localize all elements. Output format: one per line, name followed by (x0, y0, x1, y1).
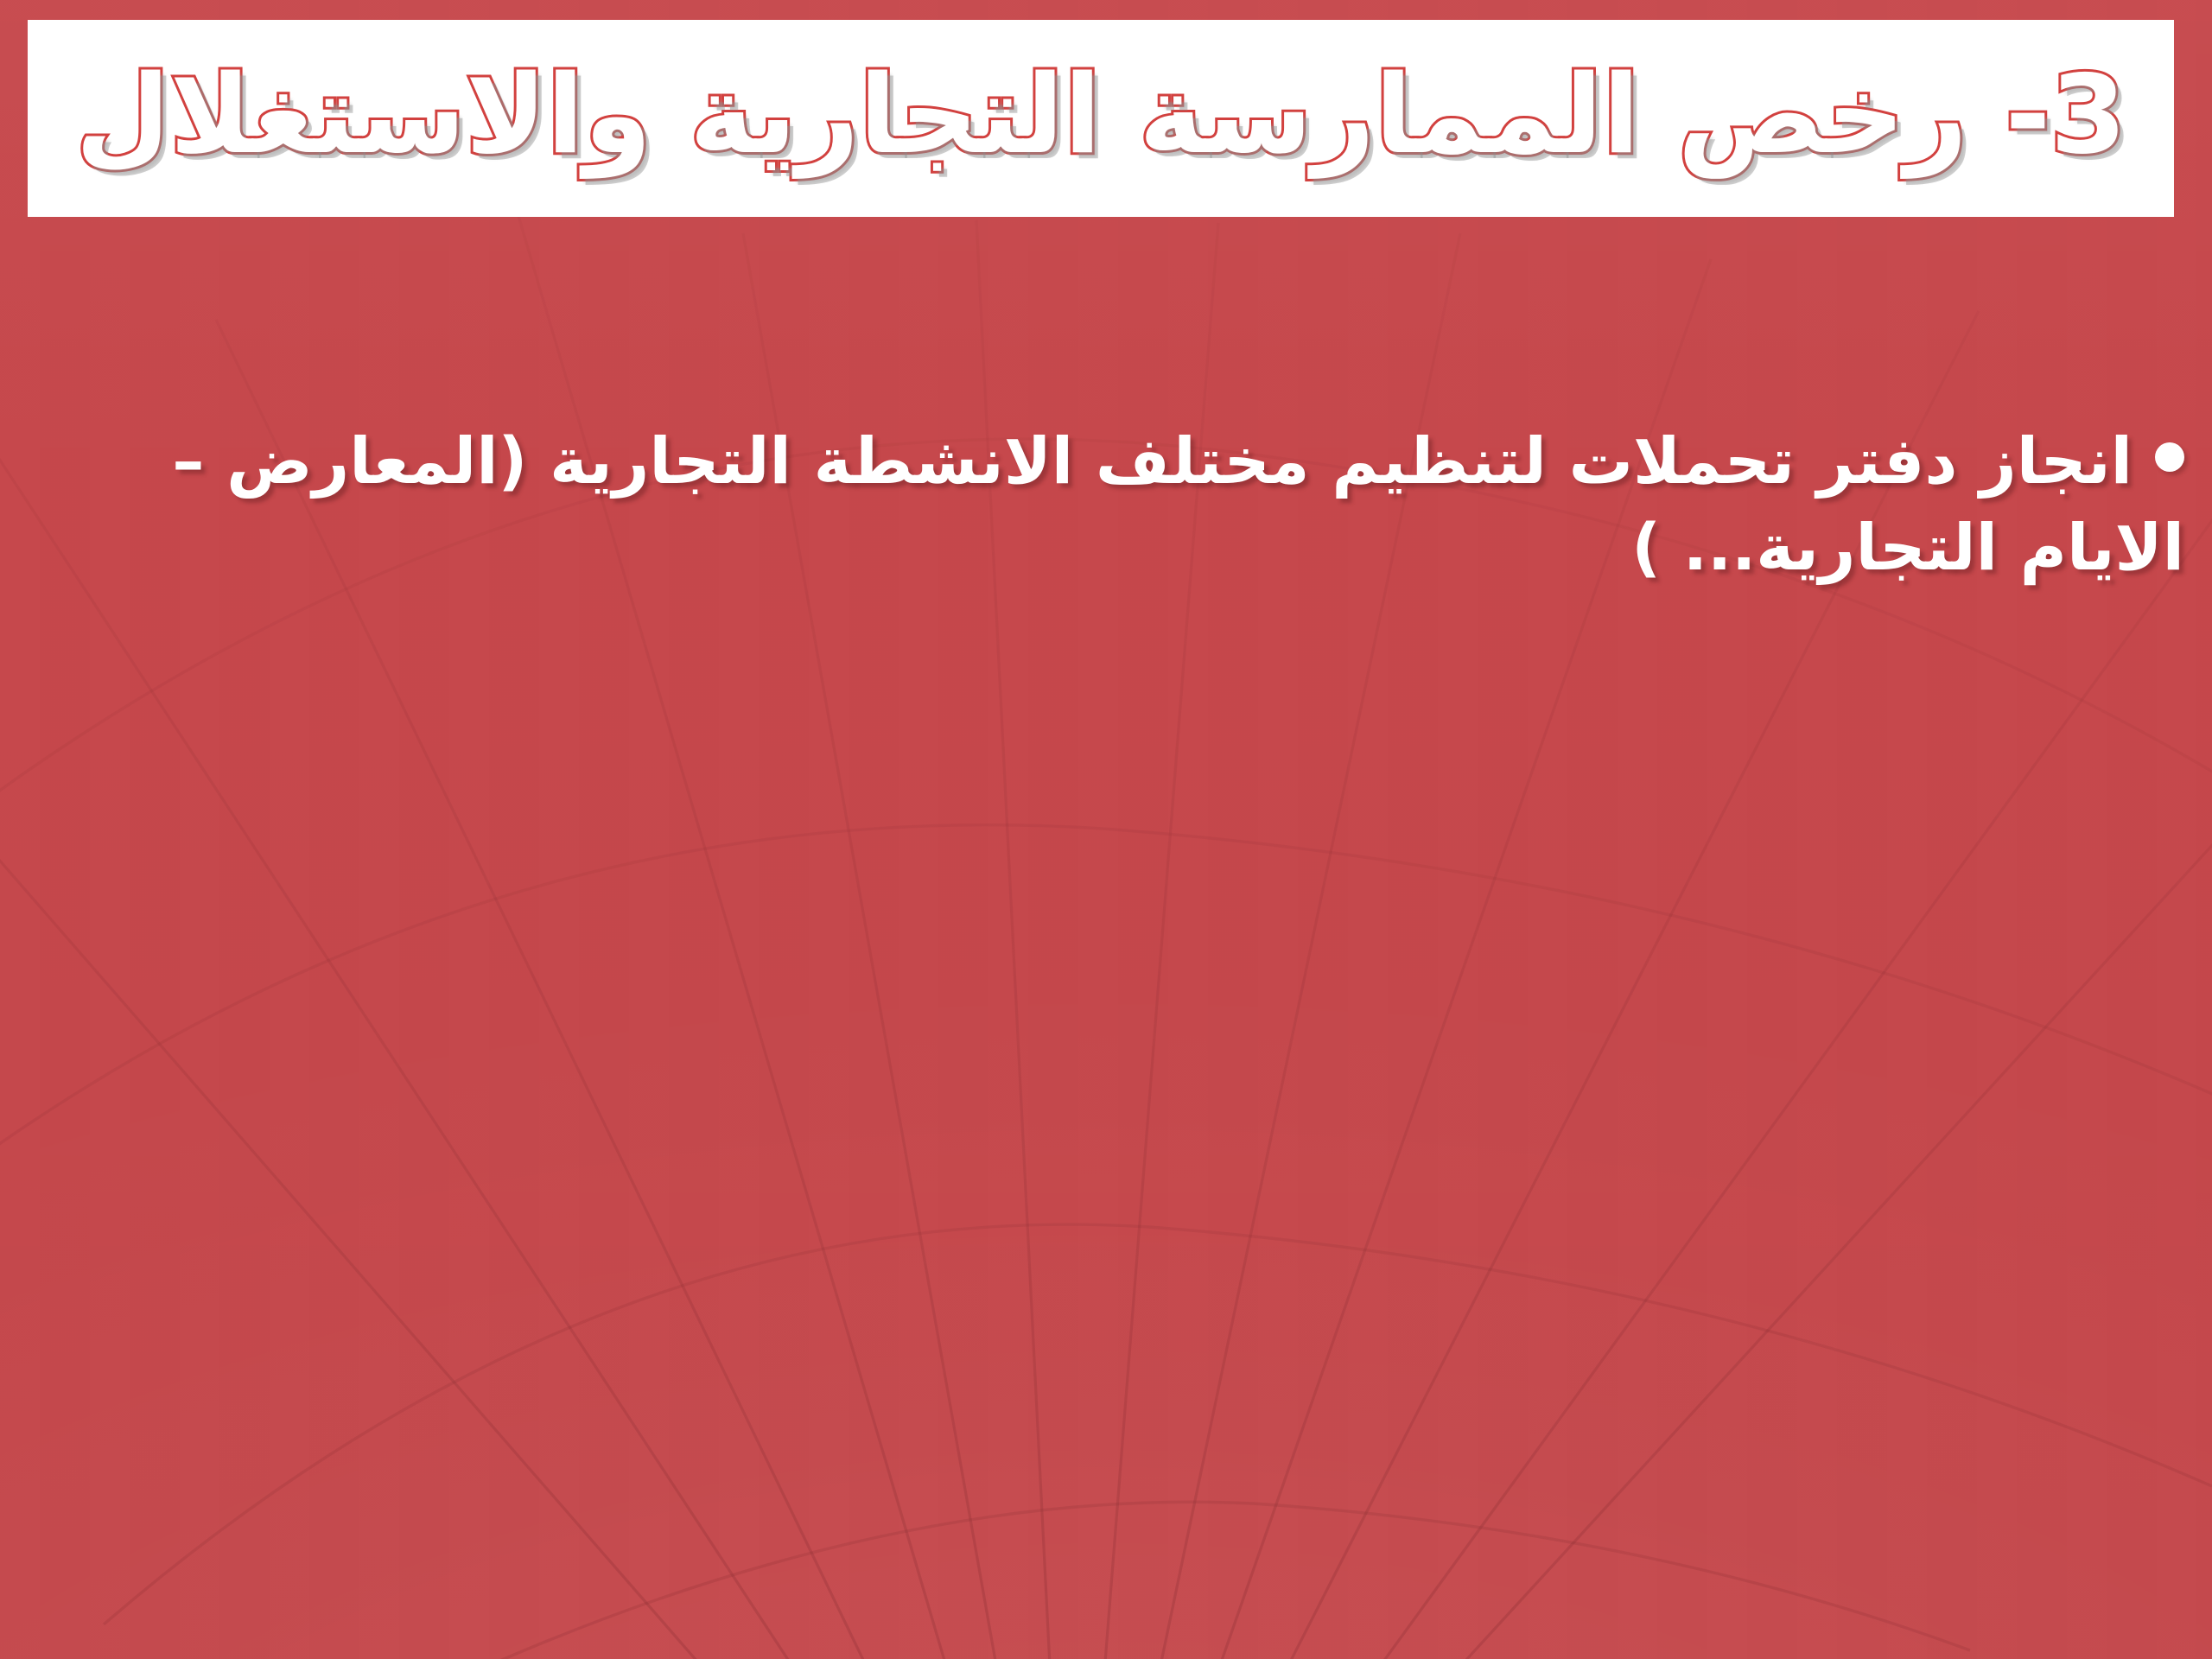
list-item: انجاز دفتر تحملات لتنظيم مختلف الانشطة ا… (0, 420, 2212, 589)
content-body: انجاز دفتر تحملات لتنظيم مختلف الانشطة ا… (0, 420, 2212, 589)
bullet-text-line-2: الايام التجارية... ) (1631, 511, 2184, 585)
background-banding (0, 0, 2212, 1659)
bullet-line-continuation: الايام التجارية... ) (0, 506, 2212, 589)
bullet-dot-icon (2155, 442, 2184, 472)
background-web-pattern (0, 0, 2212, 1659)
bullet-text-line-1: انجاز دفتر تحملات لتنظيم مختلف الانشطة ا… (172, 424, 2133, 499)
background-wash (0, 0, 2212, 1659)
slide: 3- رخص الممارسة التجارية والاستغلال انجا… (0, 0, 2212, 1659)
title-plate: 3- رخص الممارسة التجارية والاستغلال (28, 20, 2174, 217)
page-title: 3- رخص الممارسة التجارية والاستغلال (53, 60, 2148, 171)
bullet-line-primary: انجاز دفتر تحملات لتنظيم مختلف الانشطة ا… (0, 420, 2212, 503)
